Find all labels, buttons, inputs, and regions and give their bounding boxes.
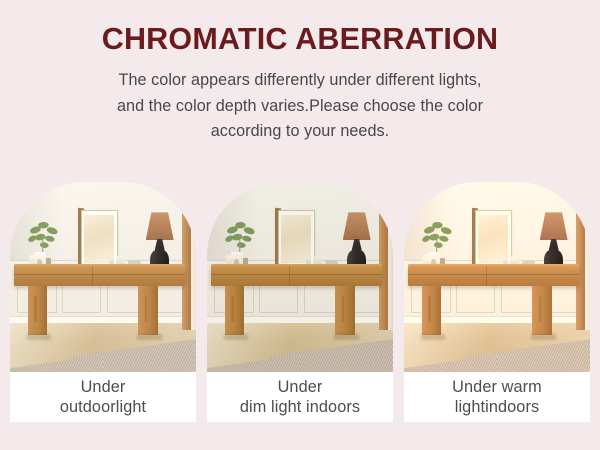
caption-text: Under warm lightindoors — [449, 377, 545, 418]
door-gap — [585, 182, 590, 330]
leg-shadow — [334, 334, 358, 340]
caption-dim-indoor: Under dim light indoors — [207, 372, 393, 422]
table-top — [408, 266, 579, 287]
photo-outdoor — [10, 182, 196, 372]
console-table-scene — [10, 182, 196, 372]
subtitle-line-2: and the color depth varies.Please choose… — [117, 97, 483, 115]
picture-art — [84, 215, 114, 263]
leg-shadow — [224, 334, 248, 340]
panel-warm-indoor: Under warm lightindoors — [404, 182, 590, 422]
picture-art — [478, 215, 508, 263]
console-table-scene — [404, 182, 590, 372]
caption-text: Under dim light indoors — [237, 377, 363, 418]
door-frame — [576, 182, 585, 330]
caption-line-2: lightindoors — [455, 398, 539, 416]
caption-warm-indoor: Under warm lightindoors — [404, 372, 590, 422]
table-leg — [138, 286, 158, 335]
table-leg — [335, 286, 355, 335]
header: CHROMATIC ABERRATION The color appears d… — [0, 0, 600, 182]
page-title: CHROMATIC ABERRATION — [28, 22, 572, 56]
comparison-panels: Under outdoorlight — [10, 182, 590, 422]
door-frame — [379, 182, 388, 330]
caption-line-1: Under — [278, 378, 323, 396]
chromatic-aberration-infographic: CHROMATIC ABERRATION The color appears d… — [0, 0, 600, 450]
door-gap — [191, 182, 196, 330]
leg-shadow — [137, 334, 161, 340]
subtitle-line-3: according to your needs. — [211, 122, 389, 140]
picture-art — [281, 215, 311, 263]
table-leg — [422, 286, 442, 335]
panel-outdoor: Under outdoorlight — [10, 182, 196, 422]
table-leg — [28, 286, 48, 335]
leg-shadow — [27, 334, 51, 340]
panel-dim-indoor: Under dim light indoors — [207, 182, 393, 422]
subtitle-line-1: The color appears differently under diff… — [119, 71, 482, 89]
console-table-scene — [207, 182, 393, 372]
table-top — [14, 266, 185, 287]
caption-line-1: Under — [81, 378, 126, 396]
door-frame — [182, 182, 191, 330]
caption-line-2: outdoorlight — [60, 398, 146, 416]
caption-line-2: dim light indoors — [240, 398, 360, 416]
subtitle: The color appears differently under diff… — [45, 68, 555, 145]
caption-text: Under outdoorlight — [57, 377, 149, 418]
leg-shadow — [531, 334, 555, 340]
caption-line-1: Under warm — [452, 378, 542, 396]
photo-warm-indoor — [404, 182, 590, 372]
door-gap — [388, 182, 393, 330]
table-leg — [225, 286, 245, 335]
table-top — [211, 266, 382, 287]
leg-shadow — [421, 334, 445, 340]
photo-dim-indoor — [207, 182, 393, 372]
table-leg — [532, 286, 552, 335]
caption-outdoor: Under outdoorlight — [10, 372, 196, 422]
